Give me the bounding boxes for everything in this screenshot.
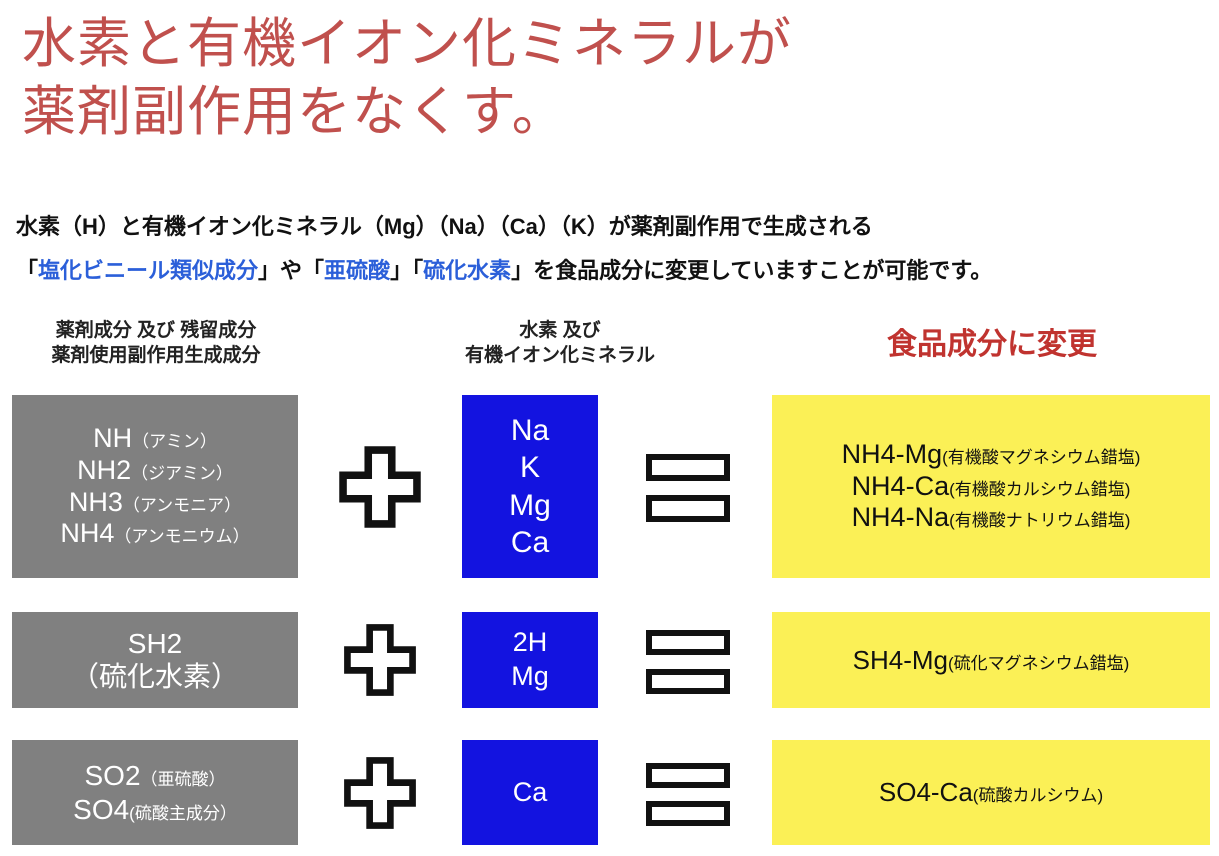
- food-component-box-annotation: (硫化マグネシウム錯塩): [948, 654, 1129, 673]
- reaction-row: NH（アミン）NH2（ジアミン）NH3（アンモニア）NH4（アンモニウム）NaK…: [0, 395, 1219, 578]
- reaction-row: SH2（硫化水素）2HMgSH4-Mg(硫化マグネシウム錯塩): [0, 612, 1219, 708]
- drug-component-box: SH2（硫化水素）: [12, 612, 298, 708]
- food-component-box-formula: NH4-Na: [852, 502, 950, 532]
- food-component-box-line: NH4-Mg(有機酸マグネシウム錯塩): [842, 439, 1141, 471]
- highlight-vinyl-chloride: 塩化ビニール類似成分: [38, 258, 258, 283]
- drug-component-box-line: SO4(硫酸主成分）: [73, 793, 237, 826]
- mineral-box-line: Na: [511, 412, 549, 450]
- drug-component-box-line: SO2（亜硫酸）: [84, 759, 225, 792]
- equals-bar: [646, 630, 730, 655]
- equals-bar: [646, 763, 730, 788]
- equals-bar: [646, 454, 730, 482]
- mineral-box-formula: K: [520, 451, 540, 484]
- food-component-box: SO4-Ca(硫酸カルシウム): [772, 740, 1210, 845]
- reaction-row: SO2（亜硫酸）SO4(硫酸主成分）CaSO4-Ca(硫酸カルシウム): [0, 740, 1219, 845]
- column-header-left-line-2: 薬剤使用副作用生成成分: [18, 343, 294, 368]
- mineral-box-formula: Ca: [511, 526, 549, 559]
- food-component-box-annotation: (有機酸カルシウム錯塩): [949, 480, 1130, 499]
- food-component-box-line: NH4-Na(有機酸ナトリウム錯塩): [852, 502, 1131, 534]
- drug-component-box: SO2（亜硫酸）SO4(硫酸主成分）: [12, 740, 298, 845]
- drug-component-box-annotation: （アンモニア）: [123, 496, 241, 515]
- drug-component-box-line: NH3（アンモニア）: [69, 487, 241, 519]
- food-component-box: SH4-Mg(硫化マグネシウム錯塩): [772, 612, 1210, 708]
- column-header-mid-line-2: 有機イオン化ミネラル: [400, 343, 720, 368]
- equals-icon: [646, 630, 730, 690]
- drug-component-box-formula: SO4: [73, 794, 129, 825]
- drug-component-box-formula: （硫化水素）: [71, 661, 239, 692]
- column-header-drug-components: 薬剤成分 及び 残留成分 薬剤使用副作用生成成分: [18, 318, 294, 368]
- quote-mid-1: 」や「: [258, 258, 324, 283]
- equals-icon: [646, 763, 730, 823]
- food-component-box-annotation: (有機酸マグネシウム錯塩): [942, 448, 1140, 467]
- food-component-box-formula: SO4-Ca: [879, 777, 973, 807]
- column-header-left-line-1: 薬剤成分 及び 残留成分: [18, 318, 294, 343]
- equals-bar: [646, 801, 730, 826]
- column-header-mid-line-1: 水素 及び: [400, 318, 720, 343]
- drug-component-box-annotation: （亜硫酸）: [141, 770, 226, 789]
- mineral-box-line: Mg: [511, 660, 549, 694]
- highlight-hydrogen-sulfide: 硫化水素: [423, 258, 511, 283]
- food-component-box-formula: SH4-Mg: [853, 645, 948, 675]
- drug-component-box-formula: NH2: [77, 455, 131, 485]
- mineral-box: 2HMg: [462, 612, 598, 708]
- page-title-line-2: 薬剤副作用をなくす。: [22, 78, 1122, 146]
- mineral-box-formula: Mg: [509, 489, 551, 522]
- lead-paragraph-line-2: 「塩化ビニール類似成分」や「亜硫酸」「硫化水素」を食品成分に変更していますことが…: [16, 258, 1206, 284]
- food-component-box-formula: NH4-Mg: [842, 439, 943, 469]
- mineral-box-line: Mg: [509, 487, 551, 525]
- food-component-box-line: SO4-Ca(硫酸カルシウム): [879, 777, 1103, 808]
- drug-component-box-annotation: （アミン）: [132, 432, 217, 451]
- mineral-box: Ca: [462, 740, 598, 845]
- plus-icon: [338, 756, 422, 830]
- plus-icon: [338, 445, 422, 529]
- mineral-box-formula: Mg: [511, 661, 549, 691]
- food-component-box: NH4-Mg(有機酸マグネシウム錯塩)NH4-Ca(有機酸カルシウム錯塩)NH4…: [772, 395, 1210, 578]
- plus-icon: [338, 623, 422, 697]
- drug-component-box-annotation: （アンモニウム）: [114, 527, 249, 546]
- drug-component-box-annotation: (硫酸主成分）: [129, 804, 237, 823]
- mineral-box-line: Ca: [511, 524, 549, 562]
- food-component-box-annotation: (硫酸カルシウム): [973, 786, 1103, 805]
- column-header-food-components: 食品成分に変更: [772, 326, 1212, 364]
- mineral-box-line: Ca: [513, 776, 548, 810]
- quote-mid-2: 」「: [390, 258, 423, 283]
- lead-text-1: 水素（H）と有機イオン化ミネラル（Mg）（Na）（Ca）（K）が薬剤副作用で生成…: [16, 214, 1206, 240]
- drug-component-box-line: NH4（アンモニウム）: [60, 518, 249, 550]
- equals-bar: [646, 495, 730, 523]
- mineral-box: NaKMgCa: [462, 395, 598, 578]
- mineral-box-line: 2H: [513, 626, 548, 660]
- drug-component-box-formula: SO2: [84, 760, 140, 791]
- lead-text-2: 「塩化ビニール類似成分」や「亜硫酸」「硫化水素」を食品成分に変更していますことが…: [16, 258, 1206, 284]
- drug-component-box-formula: NH3: [69, 487, 123, 517]
- drug-component-box-formula: NH4: [60, 518, 114, 548]
- drug-component-box: NH（アミン）NH2（ジアミン）NH3（アンモニア）NH4（アンモニウム）: [12, 395, 298, 578]
- drug-component-box-line: （硫化水素）: [71, 660, 239, 693]
- food-component-box-line: SH4-Mg(硫化マグネシウム錯塩): [853, 645, 1130, 676]
- quote-open-1: 「: [16, 258, 38, 283]
- drug-component-box-annotation: （ジアミン）: [131, 464, 233, 483]
- drug-component-box-formula: NH: [93, 423, 132, 453]
- drug-component-box-line: NH（アミン）: [93, 423, 217, 455]
- drug-component-box-line: NH2（ジアミン）: [77, 455, 233, 487]
- column-header-hydrogen-minerals: 水素 及び 有機イオン化ミネラル: [400, 318, 720, 368]
- lead-paragraph-line-1: 水素（H）と有機イオン化ミネラル（Mg）（Na）（Ca）（K）が薬剤副作用で生成…: [16, 214, 1206, 240]
- drug-component-box-line: SH2: [128, 627, 182, 660]
- drug-component-box-formula: SH2: [128, 628, 182, 659]
- equals-bar: [646, 669, 730, 694]
- mineral-box-formula: Ca: [513, 777, 548, 807]
- mineral-box-formula: Na: [511, 414, 549, 447]
- mineral-box-formula: 2H: [513, 627, 548, 657]
- page-title: 水素と有機イオン化ミネラルが 薬剤副作用をなくす。: [22, 10, 1122, 146]
- equals-icon: [646, 454, 730, 520]
- food-component-box-formula: NH4-Ca: [852, 471, 950, 501]
- lead-tail: 」を食品成分に変更していますことが可能です。: [511, 258, 992, 283]
- mineral-box-line: K: [520, 449, 540, 487]
- page-title-line-1: 水素と有機イオン化ミネラルが: [22, 10, 1122, 78]
- food-component-box-line: NH4-Ca(有機酸カルシウム錯塩): [852, 471, 1131, 503]
- food-component-box-annotation: (有機酸ナトリウム錯塩): [949, 511, 1130, 530]
- highlight-sulfurous-acid: 亜硫酸: [324, 258, 390, 283]
